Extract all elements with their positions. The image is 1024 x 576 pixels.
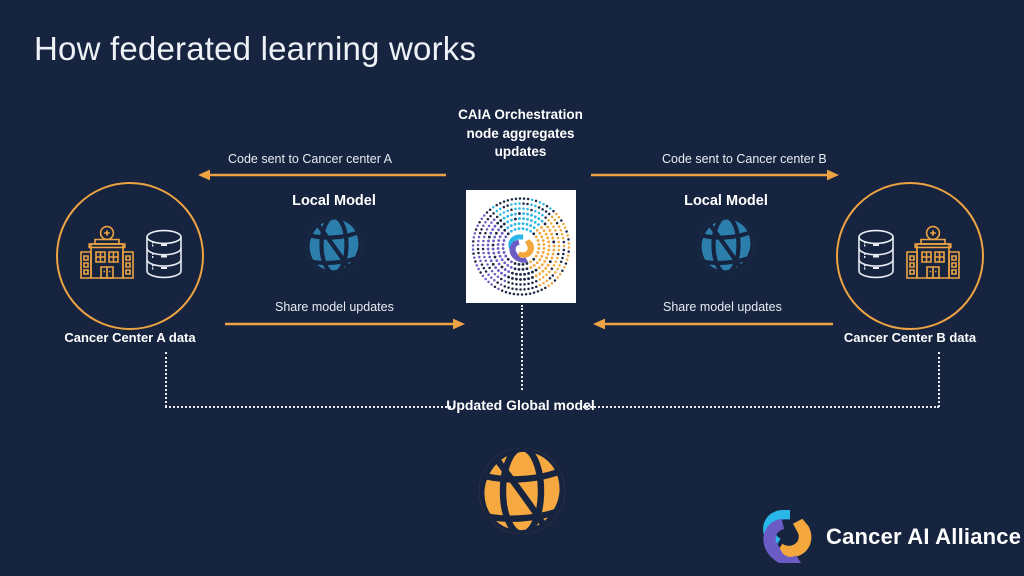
endpoint-a-label: Cancer Center A data <box>0 330 260 345</box>
local-model-a-label: Local Model <box>259 193 409 209</box>
updated-global-model-label: Updated Global model <box>443 395 598 416</box>
hospital-icon <box>901 225 965 288</box>
globe-icon <box>651 214 801 276</box>
local-model-b-label: Local Model <box>651 193 801 209</box>
dotted-connector-a-vertical <box>165 352 167 407</box>
brand-logo-group: Cancer AI Alliance <box>757 505 1021 568</box>
globe-icon <box>474 443 570 544</box>
orchestration-node-card[interactable] <box>466 190 576 303</box>
diagram-canvas: How federated learning works CAIA Orches… <box>0 0 1024 576</box>
page-title: How federated learning works <box>34 30 476 68</box>
dotted-connector-center-vertical <box>521 305 523 390</box>
arrow-share-updates-a <box>225 317 467 336</box>
arrow-share-updates-b <box>591 317 833 336</box>
cancer-ai-alliance-logo-icon <box>757 505 815 568</box>
hospital-icon <box>75 225 139 288</box>
orchestration-node-caption: CAIA Orchestration node aggregates updat… <box>443 106 598 162</box>
arrow-code-b-label: Code sent to Cancer center B <box>662 152 827 166</box>
database-icon <box>143 228 185 285</box>
endpoint-b-icons <box>838 184 982 328</box>
dotted-connector-b-vertical <box>938 352 940 407</box>
database-icon <box>855 228 897 285</box>
dotted-connector-a-horizontal <box>165 406 455 408</box>
local-model-b: Local Model <box>651 193 801 276</box>
globe-icon <box>259 214 409 276</box>
brand-name: Cancer AI Alliance <box>826 524 1021 550</box>
arrow-code-to-center-b <box>591 168 841 187</box>
dotted-connector-b-horizontal <box>583 406 939 408</box>
endpoint-cancer-center-a[interactable] <box>56 182 204 330</box>
arrow-code-a-label: Code sent to Cancer center A <box>228 152 392 166</box>
endpoint-a-icons <box>58 184 202 328</box>
caia-radial-logo-icon <box>466 190 576 303</box>
arrow-share-a-label: Share model updates <box>275 300 394 314</box>
arrow-share-b-label: Share model updates <box>663 300 782 314</box>
local-model-a: Local Model <box>259 193 409 276</box>
arrow-code-to-center-a <box>196 168 446 187</box>
endpoint-cancer-center-b[interactable] <box>836 182 984 330</box>
